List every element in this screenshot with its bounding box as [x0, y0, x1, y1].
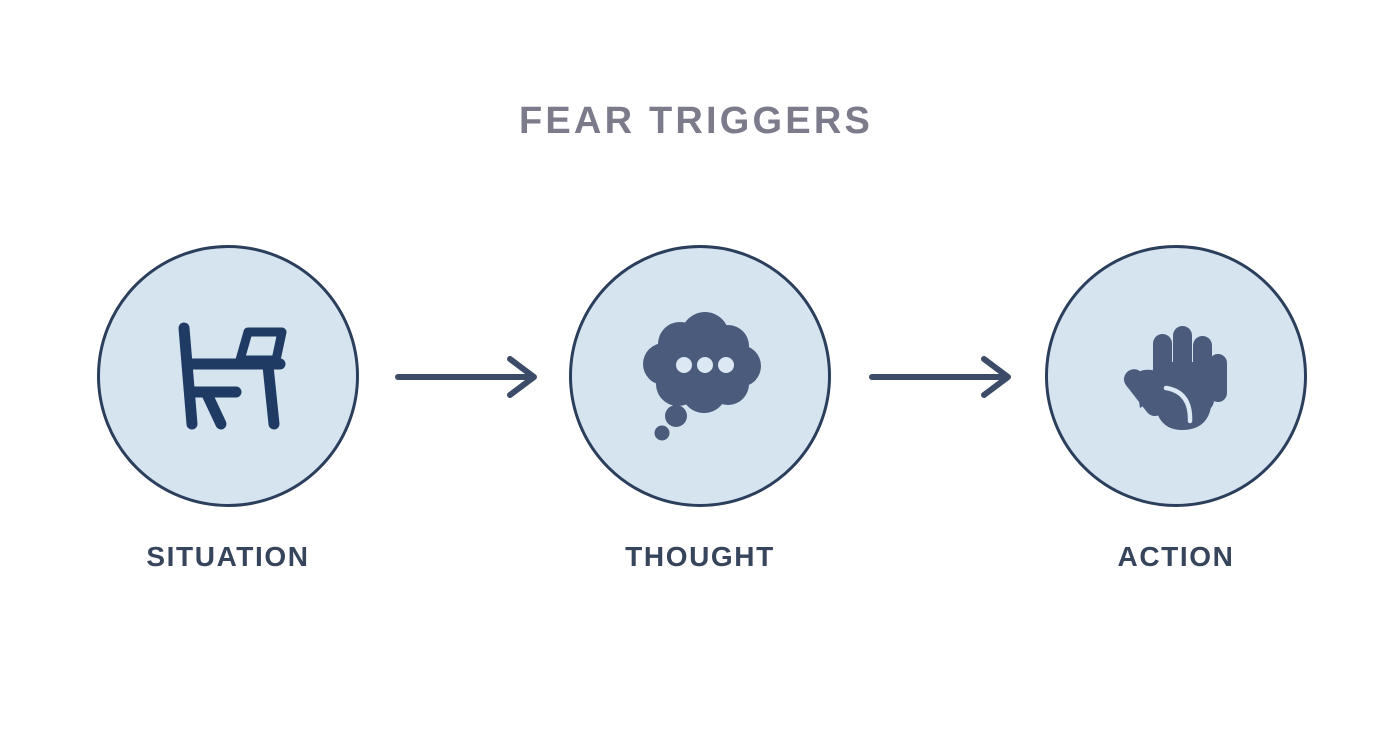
stage-circle-situation — [97, 245, 359, 507]
stage-circle-thought — [569, 245, 831, 507]
connector-thought-to-action — [868, 355, 1016, 399]
arrow-right-icon — [394, 355, 542, 399]
desk-chair-laptop-icon — [148, 296, 308, 456]
stage-thought[interactable]: THOUGHT — [569, 245, 831, 507]
stage-situation[interactable]: SITUATION — [97, 245, 359, 507]
connector-situation-to-thought — [394, 355, 542, 399]
stage-row: SITUATION — [0, 0, 1392, 752]
stop-hand-icon — [1096, 296, 1256, 456]
stage-label-action: ACTION — [1045, 541, 1307, 573]
fear-triggers-diagram: FEAR TRIGGERS — [0, 0, 1392, 752]
stage-circle-action — [1045, 245, 1307, 507]
stage-label-situation: SITUATION — [97, 541, 359, 573]
arrow-right-icon — [868, 355, 1016, 399]
thought-bubble-icon — [620, 296, 780, 456]
thought-dots — [676, 357, 734, 373]
laptop-screen-shape — [240, 332, 282, 360]
stage-action[interactable]: ACTION — [1045, 245, 1307, 507]
stage-label-thought: THOUGHT — [569, 541, 831, 573]
